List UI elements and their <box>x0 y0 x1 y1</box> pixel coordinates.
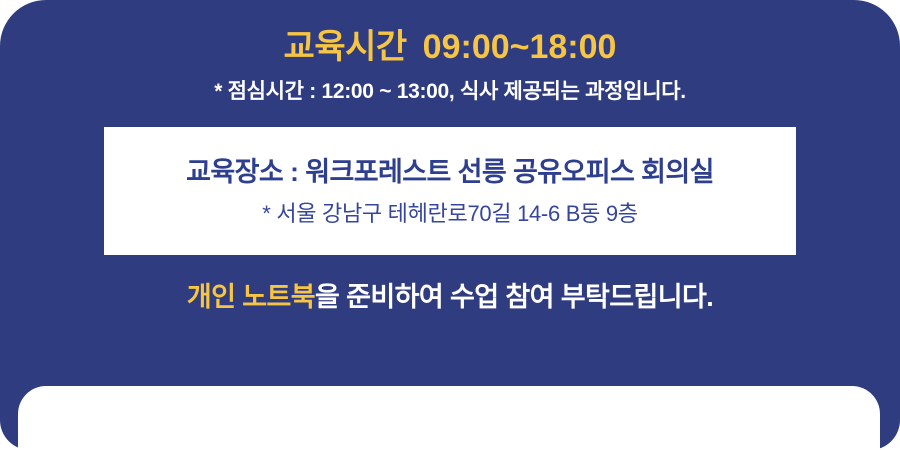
lunch-time-note: * 점심시간 : 12:00 ~ 13:00, 식사 제공되는 과정입니다. <box>214 78 686 105</box>
venue-address: * 서울 강남구 테헤란로70길 14-6 B동 9층 <box>262 200 637 228</box>
laptop-notice-rest: 을 준비하여 수업 참여 부탁드립니다. <box>315 282 713 312</box>
schedule-title-label: 교육시간 <box>284 28 407 67</box>
schedule-title-row: 교육시간 09:00~18:00 <box>284 28 617 67</box>
venue-info-box: 교육장소 : 워크포레스트 선릉 공유오피스 회의실 * 서울 강남구 테헤란로… <box>104 127 796 255</box>
bottom-white-card <box>18 386 880 450</box>
poster-content: 교육시간 09:00~18:00 * 점심시간 : 12:00 ~ 13:00,… <box>0 0 900 388</box>
laptop-notice-highlight: 개인 노트북 <box>187 282 315 312</box>
schedule-time-value: 09:00~18:00 <box>423 28 617 67</box>
education-notice-poster: 교육시간 09:00~18:00 * 점심시간 : 12:00 ~ 13:00,… <box>0 0 900 450</box>
laptop-notice: 개인 노트북을 준비하여 수업 참여 부탁드립니다. <box>187 281 713 315</box>
venue-name: 교육장소 : 워크포레스트 선릉 공유오피스 회의실 <box>186 156 714 190</box>
